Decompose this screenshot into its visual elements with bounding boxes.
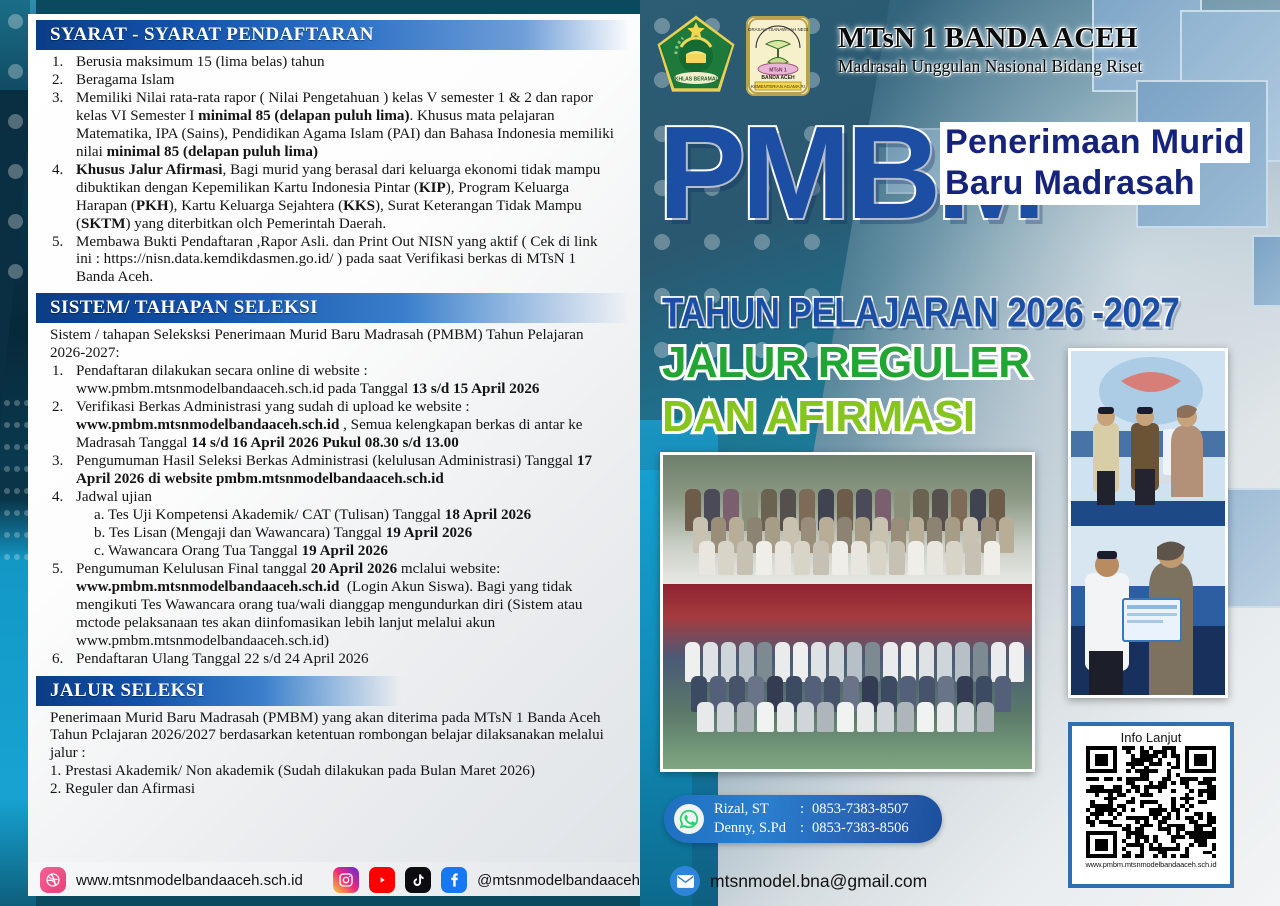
poster-root: SYARAT - SYARAT PENDAFTARAN 1.Berusia ma… bbox=[0, 0, 1280, 906]
photo-top-ceremony bbox=[663, 455, 1032, 584]
photo-group-students bbox=[660, 452, 1035, 772]
photo-person bbox=[1009, 642, 1024, 682]
list-item: 4.Khusus Jalur Afirmasi, Bagi murid yang… bbox=[50, 162, 616, 234]
whatsapp-contact-rows: Rizal, ST:0853-7383-8507Denny, S.Pd:0853… bbox=[714, 800, 909, 837]
contact-row: Denny, S.Pd:0853-7383-8506 bbox=[714, 819, 909, 838]
decorative-dot bbox=[8, 264, 23, 279]
contact-name: Denny, S.Pd bbox=[714, 819, 800, 838]
photo-person bbox=[889, 541, 905, 575]
jalur-intro: Penerimaan Murid Baru Madrasah (PMBM) ya… bbox=[50, 710, 616, 764]
qr-code-image[interactable] bbox=[1086, 746, 1216, 858]
jalur-word-afirmasi: DAN AFIRMASI bbox=[662, 392, 975, 441]
svg-text:IKHLAS BERAMAL: IKHLAS BERAMAL bbox=[674, 77, 719, 83]
instagram-icon[interactable] bbox=[333, 867, 359, 893]
email-icon bbox=[670, 866, 700, 896]
photo-person bbox=[757, 702, 774, 732]
list-item-text: Pendaftaran Ulang Tanggal 22 s/d 24 Apri… bbox=[76, 651, 369, 667]
photo-person bbox=[737, 702, 754, 732]
photo-person bbox=[756, 541, 772, 575]
jalur-line-1: JALUR REGULER bbox=[662, 338, 1030, 388]
sistem-intro: Sistem / tahapan Seleksksi Penerimaan Mu… bbox=[50, 327, 616, 363]
list-item-number: 1. bbox=[52, 54, 72, 72]
photo-award-handover bbox=[1068, 348, 1228, 698]
photo-bottom-ceremony bbox=[663, 584, 1032, 769]
photo-person bbox=[977, 702, 994, 732]
photo-people-row bbox=[697, 702, 994, 732]
decorative-dot bbox=[4, 422, 10, 428]
section-body-sistem: Sistem / tahapan Seleksksi Penerimaan Mu… bbox=[36, 327, 630, 668]
list-item: 3.Pengumuman Hasil Seleksi Berkas Admini… bbox=[50, 453, 616, 489]
pmbm-expanded-words: PenerimaanMuridBaruMadrasah bbox=[940, 122, 1280, 205]
decorative-dot bbox=[14, 400, 20, 406]
school-name: MTsN 1 BANDA ACEH bbox=[838, 22, 1142, 55]
section-body-jalur: Penerimaan Murid Baru Madrasah (PMBM) ya… bbox=[36, 710, 630, 800]
section-body-syarat: 1.Berusia maksimum 15 (lima belas) tahun… bbox=[36, 54, 630, 287]
left-footer: www.mtsnmodelbandaaceh.sch.id @mtsnmodel… bbox=[28, 860, 640, 900]
photo-person bbox=[797, 702, 814, 732]
svg-text:BANDA ACEH: BANDA ACEH bbox=[761, 75, 795, 81]
photo-person bbox=[877, 702, 894, 732]
list-item: 2.Beragama Islam bbox=[50, 72, 616, 90]
left-info-panel: SYARAT - SYARAT PENDAFTARAN 1.Berusia ma… bbox=[0, 0, 640, 906]
decorative-dot bbox=[8, 214, 23, 229]
list-item-number: 4. bbox=[52, 162, 72, 180]
logo-group: IKHLAS BERAMAL MADRASAH TSANAWIYAH NEGER… bbox=[656, 14, 810, 98]
contact-separator: : bbox=[800, 800, 812, 819]
photo-person bbox=[794, 541, 810, 575]
list-item-text: b. Tes Lisan (Mengaji dan Wawancara) Tan… bbox=[94, 525, 472, 541]
svg-text:MADRASAH TSANAWIYAH NEGERI: MADRASAH TSANAWIYAH NEGERI bbox=[748, 27, 808, 32]
pmbm-word: Madrasah bbox=[1029, 163, 1200, 204]
photo-person bbox=[995, 676, 1011, 712]
photo-person bbox=[697, 702, 714, 732]
list-item-text: Khusus Jalur Afirmasi, Bagi murid yang b… bbox=[76, 162, 600, 232]
decorative-dot bbox=[8, 64, 23, 79]
list-item-text: c. Wawancara Orang Tua Tanggal 19 April … bbox=[94, 543, 388, 559]
photo-person bbox=[737, 541, 753, 575]
list-item-number: 6. bbox=[52, 651, 72, 669]
decorative-dot bbox=[14, 466, 20, 472]
photo-person bbox=[777, 702, 794, 732]
mtsn-logo-icon: MADRASAH TSANAWIYAH NEGERI MTsN 1 BANDA … bbox=[746, 16, 810, 96]
photo-person bbox=[917, 702, 934, 732]
photo-person bbox=[965, 541, 981, 575]
qr-caption: www.pmbm.mtsnmodelbandaaceh.sch.id bbox=[1086, 860, 1217, 869]
contact-separator: : bbox=[800, 819, 812, 838]
list-item-text: 2. Reguler dan Afirmasi bbox=[50, 781, 195, 797]
list-item: 3.Memiliki Nilai rata-rata rapor ( Nilai… bbox=[50, 90, 616, 162]
kemenag-logo-icon: IKHLAS BERAMAL bbox=[656, 14, 740, 98]
list-item: 6.Pendaftaran Ulang Tanggal 22 s/d 24 Ap… bbox=[50, 651, 616, 669]
pmbm-word: Murid bbox=[1146, 122, 1250, 163]
list-item-text: 1. Prestasi Akademik/ Non akademik (Suda… bbox=[50, 763, 535, 779]
contact-name: Rizal, ST bbox=[714, 800, 800, 819]
jalur-list: 1. Prestasi Akademik/ Non akademik (Suda… bbox=[50, 763, 616, 799]
qr-info-box: Info Lanjut www.pmbm.mtsnmodelbandaaceh.… bbox=[1068, 722, 1234, 888]
photo-person bbox=[813, 541, 829, 575]
decorative-dot bbox=[4, 444, 10, 450]
decorative-dot bbox=[14, 444, 20, 450]
photo-person bbox=[699, 541, 715, 575]
whatsapp-icon bbox=[674, 804, 704, 834]
school-title-block: MTsN 1 BANDA ACEH Madrasah Unggulan Nasi… bbox=[838, 22, 1142, 77]
decorative-dot bbox=[4, 554, 10, 560]
decorative-dot bbox=[14, 532, 20, 538]
decorative-dot bbox=[4, 400, 10, 406]
list-item-text: Membawa Bukti Pendaftaran ,Rapor Asli. d… bbox=[76, 234, 598, 286]
list-item: a. Tes Uji Kompetensi Akademik/ CAT (Tul… bbox=[50, 507, 616, 525]
decorative-dot bbox=[14, 488, 20, 494]
list-item-text: Pendaftaran dilakukan secara online di w… bbox=[76, 363, 539, 397]
list-item-number: 2. bbox=[52, 399, 72, 417]
pmbm-word: Penerimaan bbox=[940, 122, 1146, 163]
contact-row: Rizal, ST:0853-7383-8507 bbox=[714, 800, 909, 819]
jalur-line-2: DAN AFIRMASI bbox=[662, 392, 975, 442]
left-content-card: SYARAT - SYARAT PENDAFTARAN 1.Berusia ma… bbox=[28, 14, 640, 894]
school-tagline: Madrasah Unggulan Nasional Bidang Riset bbox=[838, 56, 1142, 77]
photo-person bbox=[851, 541, 867, 575]
contact-phone[interactable]: 0853-7383-8506 bbox=[812, 819, 909, 838]
photo-person bbox=[718, 541, 734, 575]
photo-person bbox=[897, 702, 914, 732]
list-item: 5.Membawa Bukti Pendaftaran ,Rapor Asli.… bbox=[50, 234, 616, 288]
list-item-text: Beragama Islam bbox=[76, 72, 175, 88]
list-item-number: 1. bbox=[52, 363, 72, 381]
list-item: c. Wawancara Orang Tua Tanggal 19 April … bbox=[50, 543, 616, 561]
list-item-number: 5. bbox=[52, 234, 72, 252]
photo-person bbox=[857, 702, 874, 732]
list-item-text: Verifikasi Berkas Administrasi yang suda… bbox=[76, 399, 582, 451]
jalur-word-jalur: JALUR REGULER bbox=[662, 338, 1030, 387]
decorative-dot bbox=[4, 488, 10, 494]
list-item: 1.Pendaftaran dilakukan secara online di… bbox=[50, 363, 616, 399]
contact-phone[interactable]: 0853-7383-8507 bbox=[812, 800, 909, 819]
list-item-number: 5. bbox=[52, 561, 72, 579]
list-item-text: Pengumuman Kelulusan Final tanggal 20 Ap… bbox=[76, 561, 582, 649]
syarat-list: 1.Berusia maksimum 15 (lima belas) tahun… bbox=[50, 54, 616, 287]
section-header-syarat: SYARAT - SYARAT PENDAFTARAN bbox=[36, 20, 630, 50]
photo-person bbox=[832, 541, 848, 575]
photo-people-row bbox=[699, 541, 1000, 575]
decorative-dot bbox=[14, 510, 20, 516]
photo-person bbox=[870, 541, 886, 575]
decorative-dot bbox=[8, 114, 23, 129]
list-item: b. Tes Lisan (Mengaji dan Wawancara) Tan… bbox=[50, 525, 616, 543]
sistem-list: 1.Pendaftaran dilakukan secara online di… bbox=[50, 363, 616, 668]
list-item-text: Pengumuman Hasil Seleksi Berkas Administ… bbox=[76, 453, 592, 487]
footer-handle[interactable]: @mtsnmodelbandaaceh bbox=[477, 872, 640, 889]
facebook-icon[interactable] bbox=[441, 867, 467, 893]
email-row: mtsnmodel.bna@gmail.com bbox=[670, 866, 927, 896]
decorative-dot bbox=[4, 466, 10, 472]
photo-person bbox=[817, 702, 834, 732]
decorative-dot bbox=[4, 532, 10, 538]
decorative-dot bbox=[8, 14, 23, 29]
list-item-number: 4. bbox=[52, 489, 72, 507]
list-item: 5.Pengumuman Kelulusan Final tanggal 20 … bbox=[50, 561, 616, 651]
photo-person bbox=[717, 702, 734, 732]
section-header-sistem: SISTEM/ TAHAPAN SELEKSI bbox=[36, 293, 630, 323]
decorative-dot bbox=[8, 164, 23, 179]
list-item-text: Memiliki Nilai rata-rata rapor ( Nilai P… bbox=[76, 90, 614, 160]
dribbble-icon[interactable] bbox=[40, 867, 66, 893]
section-header-jalur: JALUR SELEKSI bbox=[36, 676, 401, 706]
tiktok-icon[interactable] bbox=[405, 867, 431, 893]
photo-person bbox=[927, 541, 943, 575]
list-item-number: 2. bbox=[52, 72, 72, 90]
youtube-icon[interactable] bbox=[369, 867, 395, 893]
svg-text:KEMENTERIAN AGAMA RI: KEMENTERIAN AGAMA RI bbox=[751, 84, 805, 89]
section-title-jalur: JALUR SELEKSI bbox=[50, 680, 205, 702]
photo-person bbox=[937, 702, 954, 732]
list-item-text: a. Tes Uji Kompetensi Akademik/ CAT (Tul… bbox=[94, 507, 531, 523]
list-item: 2.Verifikasi Berkas Administrasi yang su… bbox=[50, 399, 616, 453]
list-item: 4.Jadwal ujian bbox=[50, 489, 616, 507]
list-item-text: Jadwal ujian bbox=[76, 489, 152, 505]
qr-title: Info Lanjut bbox=[1121, 731, 1182, 745]
photo-person bbox=[957, 702, 974, 732]
photo-person bbox=[908, 541, 924, 575]
whatsapp-contact-card: Rizal, ST:0853-7383-8507Denny, S.Pd:0853… bbox=[664, 795, 942, 843]
pmbm-word: Baru bbox=[940, 163, 1029, 204]
footer-website[interactable]: www.mtsnmodelbandaaceh.sch.id bbox=[76, 872, 303, 889]
photo-person bbox=[837, 702, 854, 732]
photo-person bbox=[984, 541, 1000, 575]
section-title-syarat: SYARAT - SYARAT PENDAFTARAN bbox=[50, 24, 374, 46]
decorative-dot bbox=[4, 510, 10, 516]
list-item: 1.Berusia maksimum 15 (lima belas) tahun bbox=[50, 54, 616, 72]
academic-year-line: TAHUN PELAJARAN 2026 -2027 bbox=[662, 290, 1179, 337]
email-address[interactable]: mtsnmodel.bna@gmail.com bbox=[710, 871, 927, 892]
deco-square-4 bbox=[1252, 235, 1280, 307]
decorative-dot bbox=[14, 554, 20, 560]
list-item-number: 3. bbox=[52, 453, 72, 471]
list-item: 2. Reguler dan Afirmasi bbox=[50, 781, 616, 799]
list-item-number: 3. bbox=[52, 90, 72, 108]
decorative-dot bbox=[14, 422, 20, 428]
section-title-sistem: SISTEM/ TAHAPAN SELEKSI bbox=[50, 297, 318, 319]
photo-person bbox=[775, 541, 791, 575]
photo-person bbox=[946, 541, 962, 575]
list-item-text: Berusia maksimum 15 (lima belas) tahun bbox=[76, 54, 325, 70]
photo-person bbox=[999, 517, 1014, 553]
svg-text:MTsN 1: MTsN 1 bbox=[769, 68, 787, 74]
list-item: 1. Prestasi Akademik/ Non akademik (Suda… bbox=[50, 763, 616, 781]
